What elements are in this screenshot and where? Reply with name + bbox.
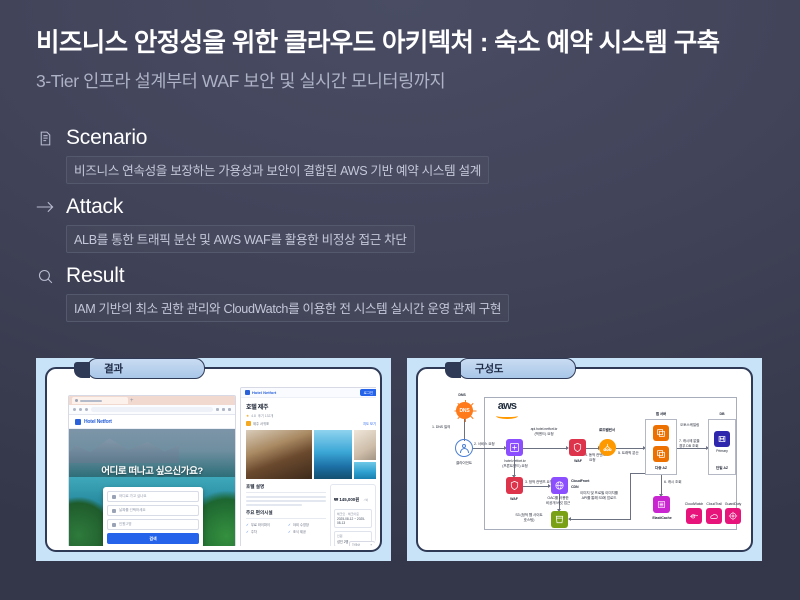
connector <box>514 456 515 476</box>
section-result: Result IAM 기반의 최소 권한 관리와 CloudWatch를 이용한… <box>36 262 676 322</box>
arrow-right-icon <box>36 198 55 217</box>
guardduty-label: GuardDuty <box>723 502 743 506</box>
load-balancer-icon <box>599 439 616 456</box>
browser-window: + <box>68 395 236 546</box>
booking-panel: ₩ 145,000원 / 박 체크인 · 체크아웃 2025-08-12 ~ 2… <box>330 484 376 546</box>
card-result-frame: 결과 + <box>45 367 382 552</box>
date-field-value: 2025-08-12 ~ 2025-08-13 <box>337 517 369 525</box>
profile-icon[interactable] <box>222 408 225 411</box>
brand-name: Hotel Netfort <box>84 419 112 425</box>
header: 비즈니스 안정성을 위한 클라우드 아키텍처 : 숙소 예약 시스템 구축 3-… <box>36 28 770 93</box>
search-icon <box>36 267 55 286</box>
page-title: 비즈니스 안정성을 위한 클라우드 아키텍처 : 숙소 예약 시스템 구축 <box>36 28 770 59</box>
connector <box>464 419 465 441</box>
reload-icon[interactable] <box>85 408 88 411</box>
card-architecture: 구성도 aws DNS <box>407 358 762 561</box>
route53-label-1: hotel.netfort.kr <box>498 459 532 463</box>
search-date-input[interactable]: 날짜를 선택하세요 <box>107 505 199 516</box>
s3-icon <box>551 511 568 528</box>
aws-logo-text: aws <box>492 401 522 412</box>
list-item: ✓ 주차 <box>246 529 284 534</box>
login-button[interactable]: 로그인 <box>360 389 376 396</box>
rating-row: ★ 4.8 후기 132개 <box>246 413 376 418</box>
location-icon <box>112 495 116 499</box>
amenity-label: 무료 와이파이 <box>251 522 270 527</box>
hero-mountain <box>69 433 179 463</box>
language-select[interactable]: 한국어 ▾ <box>349 541 375 546</box>
client-label: 클라이언트 <box>448 461 480 466</box>
location-text: 제주 서귀포 <box>253 421 269 426</box>
hotel-name: 호텔 제주 <box>246 402 376 411</box>
search-button[interactable]: 검색 <box>107 533 199 544</box>
chevron-down-icon: ▾ <box>370 543 372 547</box>
client-body <box>460 448 469 453</box>
booking-site-screenshot: + <box>51 373 376 546</box>
db-label: DB <box>708 412 736 416</box>
section-scenario-description: 비즈니스 연속성을 보장하는 가용성과 보안이 결합된 AWS 기반 예약 시스… <box>66 156 489 184</box>
dns-icon: DNS <box>456 402 473 419</box>
connector <box>661 475 662 495</box>
amenity-label: 조식 제공 <box>293 529 306 534</box>
new-tab-icon[interactable]: + <box>130 398 134 404</box>
connector <box>630 473 631 519</box>
connector <box>569 519 631 520</box>
cloudfront-sublabel: CDN <box>571 485 579 489</box>
search-date-placeholder: 날짜를 선택하세요 <box>119 508 146 513</box>
photo-gallery <box>246 430 376 479</box>
s3-sublabel: 호스팅) <box>508 518 550 523</box>
site-header: Hotel Netfort <box>69 415 235 429</box>
map-pin-icon <box>246 421 251 426</box>
detail-header: Hotel Netfort 로그인 <box>241 388 376 398</box>
browser-tab[interactable] <box>72 397 128 404</box>
browser-tab-title <box>80 400 102 402</box>
divider <box>246 492 326 493</box>
connector <box>473 448 505 449</box>
cloudtrail-icon <box>706 508 722 524</box>
annotation-api-1: api.hotel.netfort.kr <box>520 427 568 431</box>
amenities-title: 주요 편의시설 <box>246 510 326 516</box>
cloudwatch-label: CloudWatch <box>684 502 704 506</box>
gallery-photo-3[interactable] <box>314 430 352 479</box>
section-attack: Attack ALB를 통한 트래픽 분산 및 AWS WAF를 활용한 비정상… <box>36 193 676 253</box>
amenities-list: ✓ 무료 와이파이 ✓ 야외 수영장 <box>246 522 326 534</box>
section-result-title: Result <box>66 264 124 288</box>
menu-icon[interactable] <box>228 408 231 411</box>
location-row: 제주 서귀포 지도 보기 <box>246 421 376 426</box>
calendar-icon <box>112 509 116 513</box>
annotation-api-2: (백엔드) 요청 <box>520 432 568 437</box>
elasticache-icon <box>653 496 670 513</box>
cloudfront-label: CloudFront <box>571 479 589 483</box>
db-primary-label: Primary <box>708 449 736 453</box>
list-item: ✓ 조식 제공 <box>288 529 326 534</box>
section-attack-header: Attack <box>36 193 676 221</box>
guardduty-icon <box>725 508 741 524</box>
waf-api-label: WAF <box>568 459 588 463</box>
cloudtrail-label: CloudTrail <box>704 502 724 506</box>
waf-api-icon <box>569 439 586 456</box>
card-architecture-body: aws DNS DNS 1. DNS 질의 <box>422 373 747 546</box>
gallery-photo-2[interactable] <box>354 430 376 460</box>
aws-logo: aws <box>492 401 522 419</box>
detail-brand-name: Hotel Netfort <box>252 390 276 395</box>
divider <box>246 518 326 519</box>
card-result-body: + <box>51 373 376 546</box>
flow-label-4b: 요청 <box>589 458 595 463</box>
list-item: ✓ 무료 와이파이 <box>246 522 284 527</box>
card-architecture-tab[interactable]: 구성도 <box>458 358 576 379</box>
card-architecture-frame: 구성도 aws DNS <box>416 367 753 552</box>
connector <box>523 486 549 487</box>
detail-brand[interactable]: Hotel Netfort <box>245 390 276 395</box>
address-input[interactable] <box>91 407 213 412</box>
section-list: Scenario 비즈니스 연속성을 보장하는 가용성과 보안이 결합된 AWS… <box>36 124 676 331</box>
browser-tabbar: + <box>69 396 235 405</box>
browser-urlbar <box>69 405 235 415</box>
ec2-instance-icon <box>653 425 669 441</box>
card-result: 결과 + <box>36 358 391 561</box>
detail-main-column: 호텔 설명 주요 편의시설 <box>246 484 326 546</box>
flow-label-2: 2. 서비스 요청 <box>474 442 495 447</box>
connector <box>616 448 644 449</box>
map-link[interactable]: 지도 보기 <box>363 421 376 426</box>
aws-architecture-diagram: aws DNS DNS 1. DNS 질의 <box>422 373 747 546</box>
amenity-label: 주차 <box>251 529 257 534</box>
db-az-label: 단일 AZ <box>708 466 736 471</box>
section-attack-title: Attack <box>66 195 123 219</box>
flow-label-6: 6. 캐시 조회 <box>664 480 681 485</box>
arrow-icon <box>568 517 571 521</box>
detail-columns: 호텔 설명 주요 편의시설 <box>246 484 376 546</box>
section-scenario-header: Scenario <box>36 124 676 152</box>
bookmark-icon[interactable] <box>216 408 219 411</box>
location-badge: 제주 서귀포 <box>246 421 269 426</box>
cloudwatch-icon <box>686 508 702 524</box>
app-server-sublabel: 다중 AZ <box>645 466 677 471</box>
hero-title: 어디로 떠나고 싶으신가요? <box>69 463 235 477</box>
description-line <box>246 496 326 498</box>
search-destination-input[interactable]: 어디로 가고 싶나요 <box>107 491 199 502</box>
detail-content: 호텔 제주 ★ 4.8 후기 132개 제주 서귀포 <box>241 398 376 546</box>
alb-label: 로드밸런서 <box>590 428 624 433</box>
forward-icon[interactable] <box>79 408 82 411</box>
app-server-label: 앱 서버 <box>645 412 677 417</box>
date-field[interactable]: 체크인 · 체크아웃 2025-08-12 ~ 2025-08-13 <box>334 509 372 528</box>
search-form: 어디로 가고 싶나요 날짜를 선택하세요 인원 2명 <box>103 487 203 546</box>
description-title: 호텔 설명 <box>246 484 326 490</box>
star-icon: ★ <box>246 414 249 418</box>
search-guest-placeholder: 인원 2명 <box>119 522 131 527</box>
annotation-oac-2: 비공개 버킷 접근 <box>535 501 581 506</box>
route53-icon <box>506 439 523 456</box>
section-scenario: Scenario 비즈니스 연속성을 보장하는 가용성과 보안이 결합된 AWS… <box>36 124 676 184</box>
date-field-label: 체크인 · 체크아웃 <box>337 512 369 516</box>
favicon-icon <box>75 399 78 402</box>
page-subtitle: 3-Tier 인프라 설계부터 WAF 보안 및 실시간 모니터링까지 <box>36 68 770 93</box>
guest-field-label: 인원 <box>337 534 369 538</box>
section-scenario-title: Scenario <box>66 126 147 150</box>
card-result-tab[interactable]: 결과 <box>87 358 205 379</box>
dns-title: DNS <box>447 393 477 397</box>
person-icon <box>112 523 116 527</box>
flow-label-3a: 3. 정적 컨텐츠 요청 <box>525 480 553 485</box>
route53-label-2: (프론트엔드) 요청 <box>498 464 532 469</box>
flow-label-7b: 경우 DB 조회 <box>679 444 698 449</box>
flow-label-1: 1. DNS 질의 <box>432 425 450 430</box>
aws-smile-icon <box>496 413 518 419</box>
annotation-autoscaling: 오토스케일링 <box>680 423 699 428</box>
check-icon: ✓ <box>246 530 249 534</box>
section-result-header: Result <box>36 262 676 290</box>
brand-logo-icon <box>245 390 250 395</box>
rating-value: 4.8 <box>251 414 256 418</box>
check-icon: ✓ <box>246 523 249 527</box>
elasticache-label: ElastiCache <box>641 516 683 520</box>
price-unit: / 박 <box>364 498 368 502</box>
list-item: ✓ 야외 수영장 <box>288 522 326 527</box>
search-destination-placeholder: 어디로 가고 싶나요 <box>119 494 146 499</box>
waf-front-icon <box>506 477 523 494</box>
description-line <box>246 504 302 506</box>
search-guest-input[interactable]: 인원 2명 <box>107 519 199 530</box>
amenity-label: 야외 수영장 <box>293 522 309 527</box>
hero-banner: 어디로 떠나고 싶으신가요? 어디로 가고 싶나요 날짜를 선택하세요 <box>69 429 235 546</box>
client-head <box>462 444 466 448</box>
back-icon[interactable] <box>73 408 76 411</box>
waf-front-label: WAF <box>504 497 524 501</box>
language-select-value: 한국어 <box>352 543 360 547</box>
annotation-upload-2: API를 통해 S3에 업로드 <box>574 496 624 501</box>
cloudfront-icon <box>551 477 568 494</box>
hotel-detail-window: Hotel Netfort 로그인 호텔 제주 ★ 4.8 후기 132개 <box>240 387 376 546</box>
gallery-photo-4[interactable] <box>354 462 376 479</box>
section-attack-description: ALB를 통한 트래픽 분산 및 AWS WAF를 활용한 비정상 접근 차단 <box>66 225 415 253</box>
description-line <box>246 500 326 502</box>
document-icon <box>36 129 55 148</box>
price-row: ₩ 145,000원 / 박 <box>334 488 372 506</box>
flow-label-5: 5. 트래픽 분산 <box>618 451 639 456</box>
brand-logo-icon <box>75 419 81 425</box>
connector <box>523 448 567 449</box>
section-result-description: IAM 기반의 최소 권한 관리와 CloudWatch를 이용한 전 시스템 … <box>66 294 509 322</box>
rds-icon <box>714 431 730 447</box>
ec2-instance-icon <box>653 446 669 462</box>
price-value: ₩ 145,000원 <box>334 497 359 502</box>
slide-root: 비즈니스 안정성을 위한 클라우드 아키텍처 : 숙소 예약 시스템 구축 3-… <box>0 0 800 600</box>
client-icon <box>455 439 473 457</box>
check-icon: ✓ <box>288 530 291 534</box>
gallery-photo-main[interactable] <box>246 430 312 479</box>
check-icon: ✓ <box>288 523 291 527</box>
rating-count: 후기 132개 <box>258 413 274 418</box>
card-row: 결과 + <box>0 358 800 563</box>
